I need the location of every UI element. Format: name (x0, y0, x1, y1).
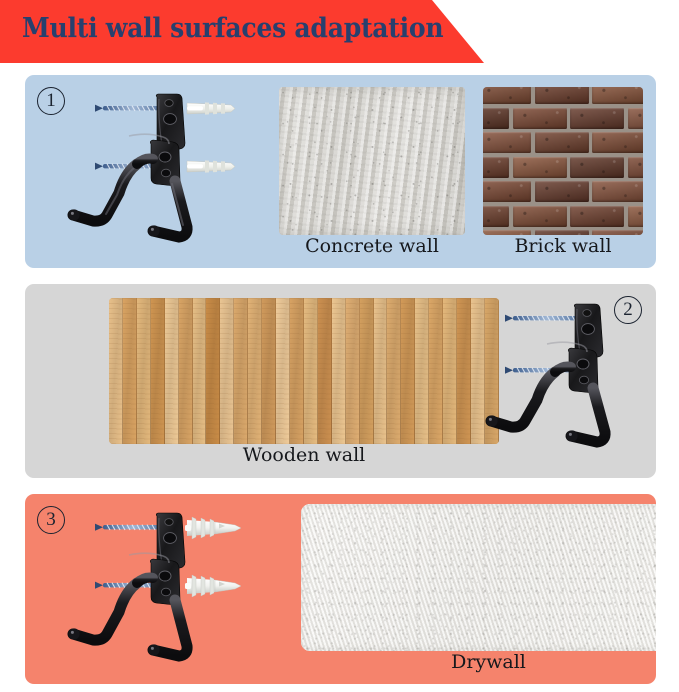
panel-step-2: 2 Wooden wall (25, 284, 656, 478)
panel-step-3: 3 (25, 494, 656, 684)
mounting-screw-upper (505, 315, 581, 322)
texture-swatch-wood (109, 298, 499, 444)
wood-plank (401, 298, 415, 444)
page-title: Multi wall surfaces adaptation (22, 13, 443, 44)
drywall-anchor-upper (185, 517, 241, 539)
hook-arm-front (491, 372, 555, 427)
drywall-texture (301, 504, 656, 651)
wood-plank (109, 298, 123, 444)
mounting-screw-upper (95, 524, 163, 531)
wood-plank (290, 298, 304, 444)
wood-plank (137, 298, 151, 444)
wood-plank (387, 298, 401, 444)
mounting-screw-upper (95, 105, 163, 112)
wood-plank (360, 298, 374, 444)
wall-anchor-upper (187, 102, 235, 114)
brick-unit (483, 181, 531, 202)
wood-plank (443, 298, 457, 444)
wood-plank (248, 298, 262, 444)
label-brick-wall: Brick wall (483, 235, 643, 257)
drywall-anchor-lower (185, 575, 241, 597)
brick-unit (535, 87, 589, 104)
wood-plank (151, 298, 165, 444)
hook-arm-front (73, 164, 137, 221)
brick-course (483, 108, 643, 129)
brick-unit (592, 181, 643, 202)
hook-assembly-2 (471, 302, 647, 462)
wood-plank (304, 298, 318, 444)
brick-course (483, 132, 643, 153)
brick-unit (628, 157, 644, 178)
label-concrete-wall: Concrete wall (279, 235, 465, 257)
texture-swatch-concrete (279, 87, 465, 235)
brick-unit (535, 132, 589, 153)
wood-plank (262, 298, 276, 444)
wood-plank (346, 298, 360, 444)
wood-plank (332, 298, 346, 444)
brick-unit (628, 206, 644, 227)
brick-texture (483, 87, 643, 235)
wood-plank (415, 298, 429, 444)
label-wooden-wall: Wooden wall (109, 444, 499, 466)
brick-unit (483, 87, 531, 104)
wall-anchor-lower (187, 160, 235, 172)
brick-unit (513, 108, 567, 129)
wood-plank (276, 298, 290, 444)
concrete-texture (279, 87, 465, 235)
brick-unit (483, 132, 531, 153)
wood-plank (234, 298, 248, 444)
brick-course (483, 181, 643, 202)
brick-unit (570, 157, 624, 178)
brick-course (483, 157, 643, 178)
wood-plank (193, 298, 207, 444)
wood-plank (457, 298, 471, 444)
brick-unit (483, 206, 509, 227)
hook-assembly-3 (59, 508, 279, 678)
hook-assembly-1 (59, 89, 279, 259)
brick-unit (535, 181, 589, 202)
brick-unit (628, 108, 644, 129)
brick-course (483, 87, 643, 104)
texture-swatch-brick (483, 87, 643, 235)
texture-swatch-drywall (301, 504, 656, 651)
brick-unit (483, 157, 509, 178)
brick-unit (483, 108, 509, 129)
hook-arm-front (73, 583, 137, 640)
wood-plank (374, 298, 388, 444)
brick-unit (570, 206, 624, 227)
panel-step-1: 1 (25, 75, 656, 268)
wood-plank (429, 298, 443, 444)
wood-plank (179, 298, 193, 444)
brick-unit (592, 87, 643, 104)
label-drywall: Drywall (301, 651, 656, 673)
brick-unit (592, 132, 643, 153)
brick-unit (513, 157, 567, 178)
wood-plank (123, 298, 137, 444)
wood-plank (165, 298, 179, 444)
brick-course (483, 206, 643, 227)
wood-plank (220, 298, 234, 444)
wood-plank (318, 298, 332, 444)
wood-texture (109, 298, 499, 444)
brick-unit (513, 206, 567, 227)
brick-unit (570, 108, 624, 129)
wood-plank (206, 298, 220, 444)
